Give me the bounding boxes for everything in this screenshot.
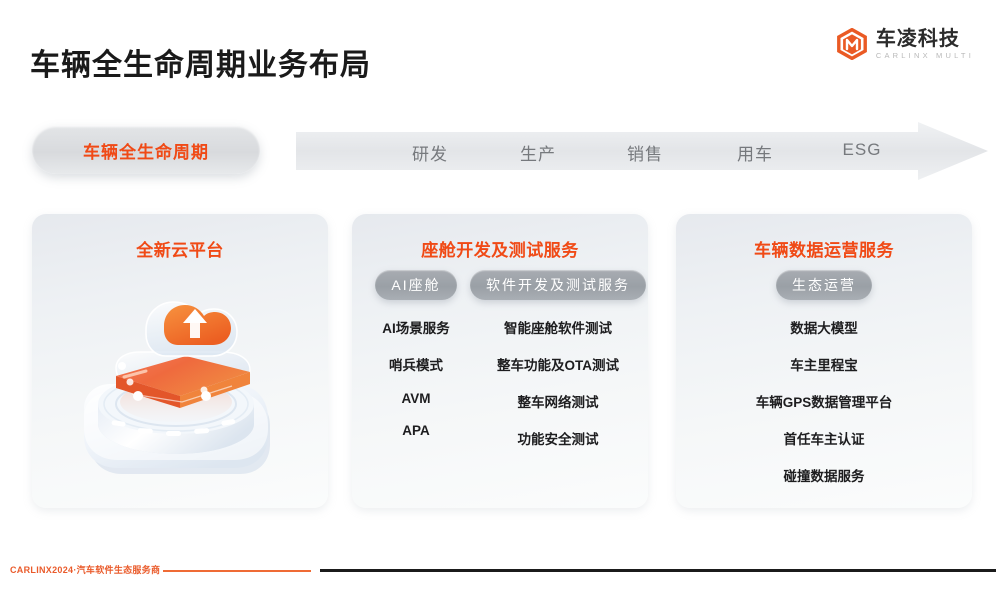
stage-label-2: 销售 [627,140,663,165]
card-cloud-platform: 全新云平台 [32,214,328,508]
stage-label-4: ESG [843,140,882,160]
logo-name-en: CARLINX MULTI [876,52,974,60]
list-item: APA [402,423,430,438]
card-title-2: 车辆数据运营服务 [676,236,972,261]
subpill-label: 生态运营 [792,275,856,295]
footer-rule-dark [320,569,996,572]
subpill-ai-cockpit: AI座舱 [375,270,456,300]
list-item: 数据大模型 [790,317,858,337]
stage-label-0: 研发 [412,140,448,165]
group-ecosystem-operations: 生态运营 数据大模型 车主里程宝 车辆GPS数据管理平台 首任车主认证 碰撞数据… [676,270,972,485]
list-item: 碰撞数据服务 [784,465,865,485]
logo-name-cn: 车凌科技 [876,29,974,50]
list-item: 首任车主认证 [784,428,865,448]
lifecycle-pill-label: 车辆全生命周期 [83,138,209,163]
list-item: 整车网络测试 [518,391,599,411]
list-item: AVM [402,391,431,406]
group-ai-cockpit: AI座舱 AI场景服务 哨兵模式 AVM APA [360,270,472,448]
list-item: 功能安全测试 [518,428,599,448]
lifecycle-pill: 车辆全生命周期 [32,126,260,174]
stage-label-3: 用车 [737,140,773,165]
cloud-platform-3d-icon [54,276,306,504]
subpill-label: 软件开发及测试服务 [486,275,630,295]
list-item: AI场景服务 [382,317,450,337]
card-cockpit-dev-test: 座舱开发及测试服务 AI座舱 AI场景服务 哨兵模式 AVM APA 软件开发及… [352,214,648,508]
subpill-label: AI座舱 [391,275,440,295]
group-software-dev-test: 软件开发及测试服务 智能座舱软件测试 整车功能及OTA测试 整车网络测试 功能安… [474,270,642,448]
list-item: 哨兵模式 [389,354,443,374]
stage-label-1: 生产 [520,140,556,165]
subpill-software-dev-test: 软件开发及测试服务 [470,270,646,300]
list-item: 智能座舱软件测试 [504,317,612,337]
card-vehicle-data-operations: 车辆数据运营服务 生态运营 数据大模型 车主里程宝 车辆GPS数据管理平台 首任… [676,214,972,508]
card-title-0: 全新云平台 [32,236,328,261]
subpill-ecosystem-operations: 生态运营 [776,270,872,300]
brand-logo: 车凌科技 CARLINX MULTI [836,28,974,60]
slide-root: 车辆全生命周期业务布局 车凌科技 CARLINX MULTI 车辆全生命周期 [0,0,996,600]
footer-tagline: CARLINX2024·汽车软件生态服务商 [10,563,160,576]
list-item: 车主里程宝 [790,354,858,374]
list-item: 整车功能及OTA测试 [497,354,619,374]
hexagon-m-logo-icon [836,28,868,60]
page-title: 车辆全生命周期业务布局 [30,40,371,84]
list-item: 车辆GPS数据管理平台 [756,391,893,411]
card-title-1: 座舱开发及测试服务 [352,236,648,261]
footer-rule-orange [163,570,311,572]
